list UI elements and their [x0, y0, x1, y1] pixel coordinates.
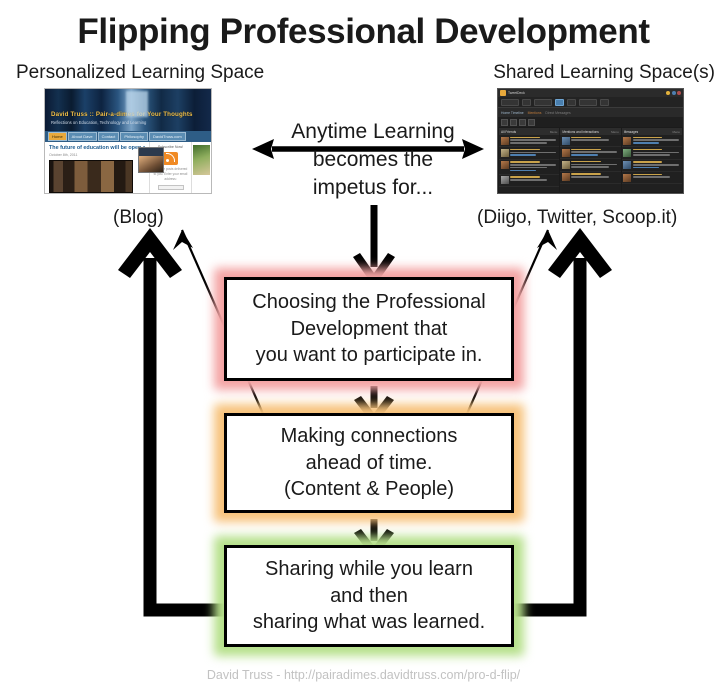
process-box-line: sharing what was learned. — [253, 609, 485, 636]
dashboard-icon-row — [498, 117, 683, 127]
page-title: Flipping Professional Development — [0, 12, 727, 52]
blog-nav-item[interactable]: DavidTruss.com — [149, 132, 186, 141]
dashboard-column: All Friends Menu — [499, 128, 559, 192]
avatar — [623, 174, 631, 182]
process-box: Choosing the Professional Development th… — [224, 277, 514, 381]
blog-navbar: Home About Dave Contact Philosophy David… — [45, 131, 211, 142]
process-step-choosing-pd: Choosing the Professional Development th… — [214, 268, 524, 390]
list-item[interactable] — [499, 147, 559, 159]
dashboard-column: Mentions and Interactions Menu — [560, 128, 620, 192]
blog-site-tagline: Reflections on Education, Technology and… — [51, 120, 146, 125]
shared-space-label: Shared Learning Space(s) — [493, 62, 715, 84]
process-step-sharing-learning: Sharing while you learn and then sharing… — [214, 536, 524, 656]
column-header: All Friends Menu — [499, 128, 559, 135]
toolbar-button[interactable] — [579, 99, 597, 106]
dashboard-app-title: TweetDeck — [508, 91, 525, 95]
breadcrumb-segment[interactable]: Direct Messages — [545, 111, 570, 115]
blog-content-area: The future of education will be open and… — [45, 142, 211, 193]
center-message-line: becomes the — [283, 146, 463, 174]
accounts-icon[interactable] — [519, 119, 526, 126]
center-message-line: Anytime Learning — [283, 118, 463, 146]
blog-tool-label: (Blog) — [113, 207, 164, 229]
minimize-icon[interactable] — [666, 91, 670, 95]
blog-nav-item[interactable]: Home — [48, 132, 67, 141]
avatar — [562, 137, 570, 145]
blog-site-title: David Truss :: Pair-a-dimes for Your Tho… — [51, 111, 193, 118]
dashboard-toolbar — [498, 97, 683, 108]
dashboard-columns: All Friends Menu — [498, 127, 683, 193]
list-item[interactable] — [499, 135, 559, 147]
process-box-line: you want to participate in. — [256, 342, 483, 369]
infographic-canvas: Flipping Professional Development Person… — [0, 0, 727, 700]
dashboard-titlebar: TweetDeck — [498, 89, 683, 97]
process-step-making-connections: Making connections ahead of time. (Conte… — [214, 404, 524, 522]
avatar — [623, 137, 631, 145]
breadcrumb-segment[interactable]: Home Timeline — [501, 111, 524, 115]
blog-header-banner: David Truss :: Pair-a-dimes for Your Tho… — [45, 89, 211, 131]
avatar — [623, 161, 631, 169]
avatar-hat — [139, 148, 163, 156]
list-item[interactable] — [622, 160, 682, 172]
list-item[interactable] — [560, 172, 620, 184]
toolbar-button[interactable] — [600, 99, 609, 106]
process-box: Sharing while you learn and then sharing… — [224, 545, 514, 647]
toolbar-button[interactable] — [501, 99, 519, 106]
process-box-line: ahead of time. — [306, 450, 433, 477]
avatar — [501, 149, 509, 157]
avatar — [501, 176, 509, 184]
column-icon[interactable] — [510, 119, 517, 126]
process-box-line: Making connections — [281, 423, 458, 450]
column-menu-label[interactable]: Menu — [550, 130, 558, 134]
close-icon[interactable] — [677, 91, 681, 95]
compose-icon[interactable] — [501, 119, 508, 126]
center-message-line: impetus for... — [283, 174, 463, 202]
column-header: Mentions and Interactions Menu — [560, 128, 620, 135]
blog-post-date: October 8th, 2011 — [49, 153, 145, 157]
process-box-line: Choosing the Professional — [252, 289, 485, 316]
avatar — [562, 173, 570, 181]
settings-icon[interactable] — [528, 119, 535, 126]
avatar — [562, 161, 570, 169]
column-header: Messages Menu — [622, 128, 682, 135]
column-feed[interactable] — [560, 135, 620, 192]
toolbar-button-active[interactable] — [555, 99, 564, 106]
breadcrumb-segment[interactable]: Mentions — [528, 111, 542, 115]
process-box-line: Development that — [291, 316, 448, 343]
column-menu-label[interactable]: Menu — [672, 130, 680, 134]
process-box-line: Sharing while you learn — [265, 556, 473, 583]
list-item[interactable] — [560, 147, 620, 159]
blog-subscribe-input[interactable] — [158, 185, 184, 191]
personalized-space-label: Personalized Learning Space — [16, 62, 264, 84]
avatar — [562, 149, 570, 157]
process-box-line: and then — [330, 583, 408, 610]
dashboard-column: Messages Menu — [622, 128, 682, 192]
column-title: All Friends — [501, 130, 516, 134]
blog-sidebar-image — [193, 145, 210, 175]
rss-feed-icon[interactable] — [163, 152, 178, 165]
avatar — [501, 161, 509, 169]
avatar — [138, 147, 164, 173]
blog-nav-item[interactable]: Contact — [98, 132, 120, 141]
dashboard-breadcrumb: Home Timeline Mentions Direct Messages — [498, 108, 683, 117]
blog-secondary-sidebar — [191, 142, 211, 193]
social-dashboard-thumbnail[interactable]: TweetDeck Home Timeline Mentions Direct … — [497, 88, 684, 194]
avatar — [501, 137, 509, 145]
column-menu-label[interactable]: Menu — [611, 130, 619, 134]
column-feed[interactable] — [499, 135, 559, 192]
blog-post-image — [49, 160, 133, 193]
window-controls — [666, 91, 681, 95]
toolbar-button[interactable] — [534, 99, 552, 106]
maximize-icon[interactable] — [672, 91, 676, 95]
list-item[interactable] — [499, 160, 559, 175]
footer-credit: David Truss - http://pairadimes.davidtru… — [0, 668, 727, 682]
list-item[interactable] — [499, 175, 559, 187]
list-item[interactable] — [560, 159, 620, 171]
blog-nav-item[interactable]: Philosophy — [120, 132, 148, 141]
avatar — [623, 149, 631, 157]
app-logo-icon — [500, 90, 506, 96]
toolbar-button[interactable] — [567, 99, 576, 106]
column-feed[interactable] — [622, 135, 682, 192]
column-title: Messages — [624, 130, 639, 134]
list-item[interactable] — [622, 147, 682, 159]
column-title: Mentions and Interactions — [562, 130, 599, 134]
blog-screenshot-thumbnail[interactable]: David Truss :: Pair-a-dimes for Your Tho… — [44, 88, 212, 194]
toolbar-button[interactable] — [522, 99, 531, 106]
list-item[interactable] — [622, 172, 682, 184]
list-item[interactable] — [560, 135, 620, 147]
blog-main-column: The future of education will be open and… — [45, 142, 149, 193]
center-message: Anytime Learning becomes the impetus for… — [283, 118, 463, 202]
list-item[interactable] — [622, 135, 682, 147]
blog-nav-item[interactable]: About Dave — [68, 132, 97, 141]
process-box: Making connections ahead of time. (Conte… — [224, 413, 514, 513]
blog-post-title[interactable]: The future of education will be open and… — [49, 145, 145, 151]
process-box-line: (Content & People) — [284, 476, 454, 503]
